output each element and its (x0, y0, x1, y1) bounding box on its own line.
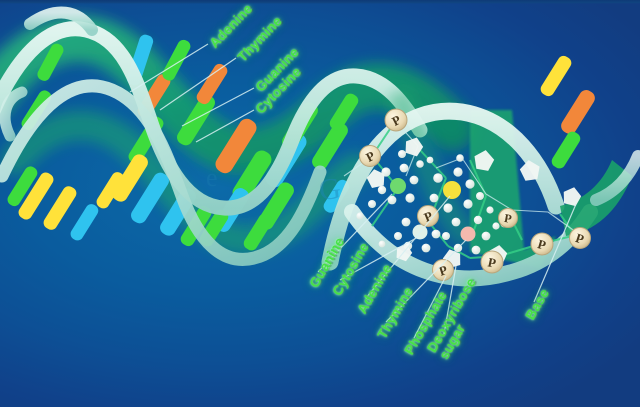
label-layer: Adenine Thymine Guanine Cytosine Guanine… (0, 0, 640, 407)
label-base: Base (523, 286, 553, 322)
top-edge-strip (0, 0, 640, 4)
dna-illustration: G e (0, 0, 640, 407)
